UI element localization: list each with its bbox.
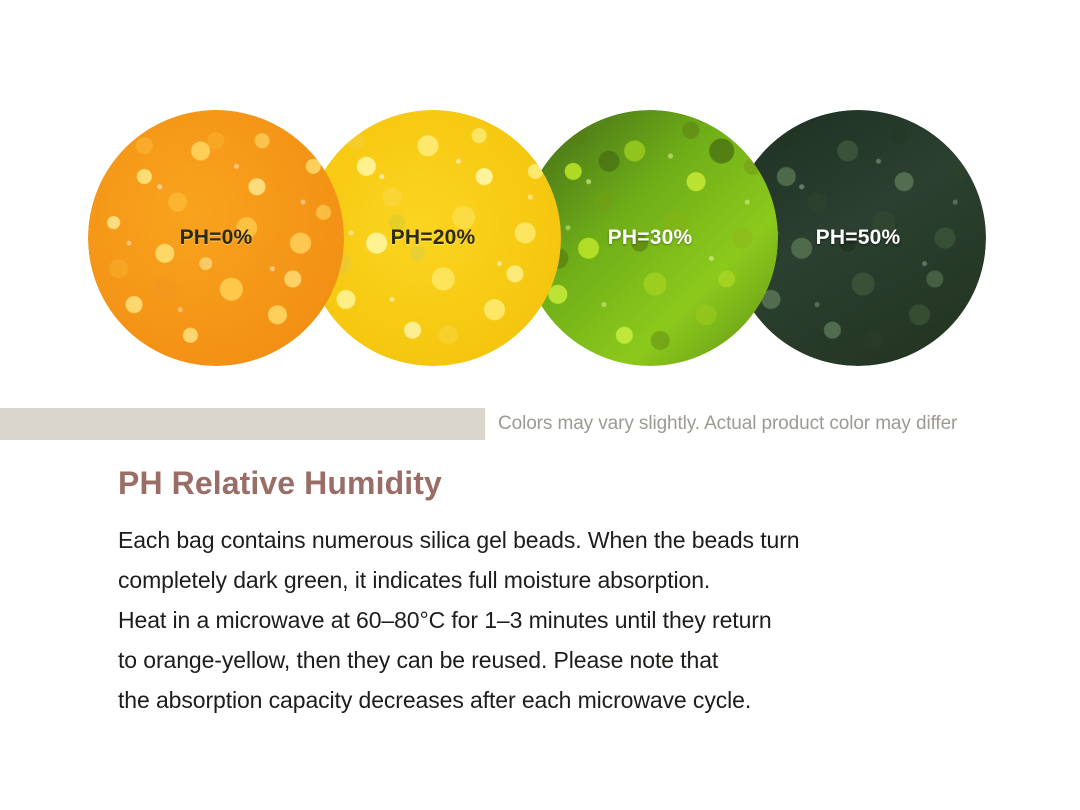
body-line: the absorption capacity decreases after …	[118, 680, 1018, 720]
section-title: PH Relative Humidity	[118, 465, 1018, 502]
ph-swatch-0: PH=0%	[88, 110, 344, 366]
ph-swatch-label-20: PH=20%	[391, 226, 476, 250]
ph-color-swatch-strip: PH=0% PH=20% PH=30% PH=50%	[0, 0, 1080, 400]
section-body: Each bag contains numerous silica gel be…	[118, 520, 1018, 720]
description-block: PH Relative Humidity Each bag contains n…	[118, 465, 1018, 720]
body-line: Heat in a microwave at 60–80°C for 1–3 m…	[118, 600, 1018, 640]
disclaimer-text: Colors may vary slightly. Actual product…	[498, 413, 957, 435]
ph-swatch-label-50: PH=50%	[816, 226, 901, 250]
body-line: Each bag contains numerous silica gel be…	[118, 520, 1018, 560]
ph-swatch-label-0: PH=0%	[180, 226, 253, 250]
disclaimer-row: Colors may vary slightly. Actual product…	[0, 408, 1080, 440]
ph-swatch-label-30: PH=30%	[608, 226, 693, 250]
body-line: to orange-yellow, then they can be reuse…	[118, 640, 1018, 680]
disclaimer-accent-bar	[0, 408, 485, 440]
body-line: completely dark green, it indicates full…	[118, 560, 1018, 600]
product-info-graphic: PH=0% PH=20% PH=30% PH=50% Colors may va…	[0, 0, 1080, 810]
